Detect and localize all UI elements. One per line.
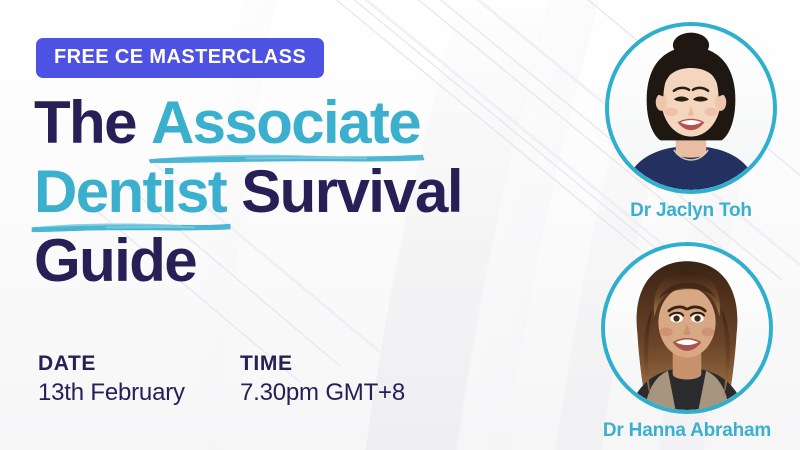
speaker-avatar-jaclyn-toh (605, 22, 777, 194)
date-value: 13th February (38, 378, 196, 408)
time-value: 7.30pm GMT+8 (240, 378, 405, 408)
headline-word-associate-text: Associate (151, 89, 420, 156)
headline-word-survival: Survival (226, 158, 462, 225)
headline-word-dentist-text: Dentist (34, 158, 226, 225)
speaker-avatar-hanna-abraham (601, 242, 773, 414)
time-label: TIME (240, 352, 405, 376)
speaker-card-hanna-abraham: Dr Hanna Abraham (594, 242, 780, 442)
time-block: TIME 7.30pm GMT+8 (240, 352, 405, 408)
headline-line-3: Guide (34, 230, 574, 292)
speaker-card-jaclyn-toh: Dr Jaclyn Toh (598, 22, 784, 222)
headline-word-the: The (34, 89, 151, 156)
speaker-name-hanna-abraham: Dr Hanna Abraham (594, 420, 780, 442)
speaker-name-jaclyn-toh: Dr Jaclyn Toh (598, 200, 784, 222)
headline-word-dentist: Dentist (34, 161, 226, 223)
headline-word-guide: Guide (34, 227, 196, 294)
free-ce-masterclass-badge: FREE CE MASTERCLASS (36, 38, 324, 78)
promo-banner: FREE CE MASTERCLASS The Associate Dentis… (0, 0, 800, 450)
date-block: DATE 13th February (38, 352, 196, 408)
headline-line-2: Dentist Survival (34, 161, 574, 223)
headline: The Associate Dentist Survival Guide (34, 92, 574, 291)
headline-line-1: The Associate (34, 92, 574, 154)
headline-word-associate: Associate (151, 92, 420, 154)
event-details: DATE 13th February TIME 7.30pm GMT+8 (38, 352, 405, 408)
date-label: DATE (38, 352, 196, 376)
